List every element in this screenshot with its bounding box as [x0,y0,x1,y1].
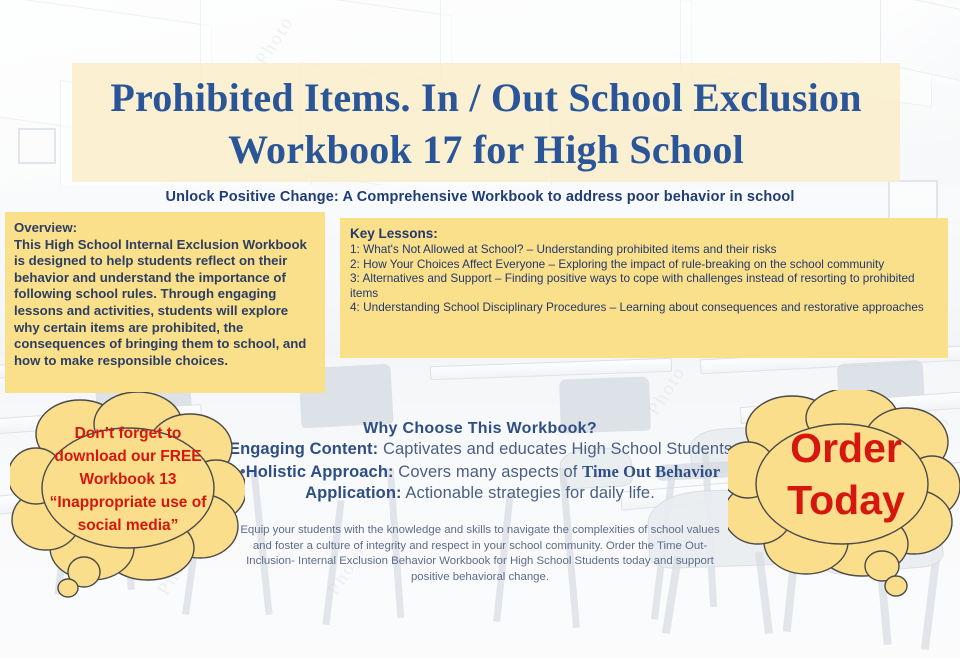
key-lesson-item: 3: Alternatives and Support – Finding po… [350,271,938,300]
benefit-holistic-approach: •Holistic Approach: Covers many aspects … [200,462,760,482]
closing-paragraph: Equip your students with the knowledge a… [230,523,730,585]
benefit-application: Application: Actionable strategies for d… [200,484,760,503]
free-workbook-cloud[interactable]: Don’t forget to download our FREE Workbo… [10,392,245,607]
benefit-label: Holistic Approach: [246,463,394,481]
key-lessons-heading: Key Lessons: [350,226,938,241]
benefit-text: Captivates and educates High School Stud… [383,440,737,458]
poster-canvas: Photo Photo Photo Photo Photo Prohibited… [0,0,960,658]
order-today-cloud-text: Order Today [756,422,936,526]
benefit-emphasis: Time Out Behavior [582,462,720,481]
page-title: Prohibited Items. In / Out School Exclus… [72,72,900,176]
free-workbook-cloud-text: Don’t forget to download our FREE Workbo… [38,422,218,537]
key-lessons-panel: Key Lessons: 1: What's Not Allowed at Sc… [340,218,948,358]
page-subtitle: Unlock Positive Change: A Comprehensive … [80,189,880,205]
benefit-text: Actionable strategies for daily life. [405,484,655,502]
key-lesson-item: 4: Understanding School Disciplinary Pro… [350,300,938,315]
benefit-text: Covers many aspects of [398,463,582,481]
why-choose-heading: Why Choose This Workbook? [230,420,730,438]
benefit-label: Engaging Content [229,440,373,458]
key-lesson-item: 2: How Your Choices Affect Everyone – Ex… [350,257,938,272]
overview-panel: Overview: This High School Internal Excl… [5,212,325,393]
benefit-separator: : [373,440,379,458]
overview-heading: Overview: [14,220,316,237]
benefit-label: Application: [305,484,402,502]
benefit-engaging-content: •Engaging Content: Captivates and educat… [200,440,760,459]
overview-body: This High School Internal Exclusion Work… [14,237,316,370]
order-today-cloud[interactable]: Order Today [728,390,960,605]
key-lesson-item: 1: What's Not Allowed at School? – Under… [350,242,938,257]
